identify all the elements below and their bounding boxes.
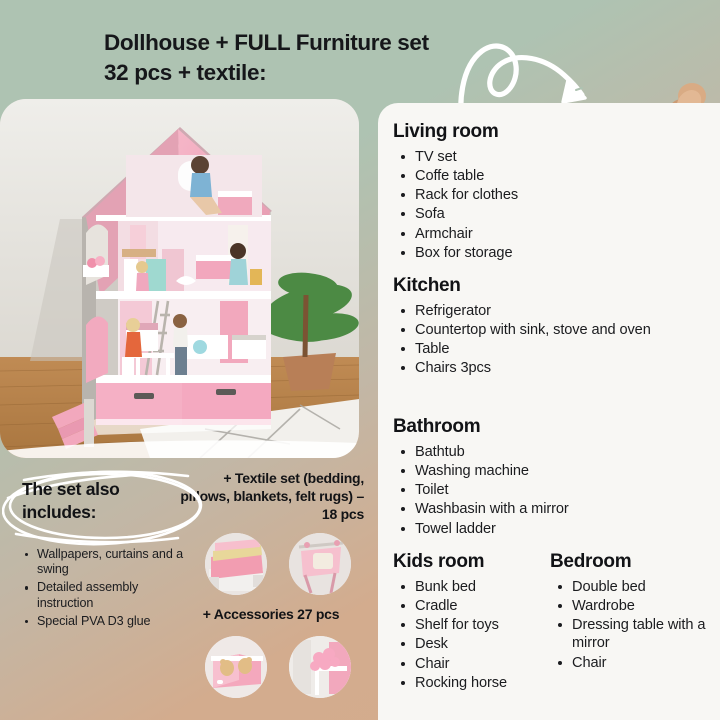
list-item: Armchair bbox=[393, 225, 693, 243]
page-title: Dollhouse + FULL Furniture set 32 pcs + … bbox=[104, 28, 504, 87]
list-item: Countertop with sink, stove and oven bbox=[393, 321, 693, 339]
list-item: Detailed assembly instruction bbox=[22, 580, 197, 612]
list-item: Washing machine bbox=[393, 462, 693, 480]
set-includes-heading-line-2: includes: bbox=[22, 502, 96, 522]
page-title-line-1: Dollhouse + FULL Furniture set bbox=[104, 28, 504, 58]
room-block-kitchen: Kitchen Refrigerator Countertop with sin… bbox=[393, 275, 693, 379]
room-block-bathroom: Bathroom Bathtub Washing machine Toilet … bbox=[393, 416, 693, 539]
list-item: Wardrobe bbox=[550, 597, 715, 615]
room-heading-bathroom: Bathroom bbox=[393, 416, 693, 438]
list-item: Toilet bbox=[393, 481, 693, 499]
list-item: Washbasin with a mirror bbox=[393, 500, 693, 518]
list-item: Wallpapers, curtains and a swing bbox=[22, 547, 197, 579]
room-heading-living-room: Living room bbox=[393, 121, 693, 143]
list-item: Rocking horse bbox=[393, 674, 553, 692]
list-item: Bathtub bbox=[393, 443, 693, 461]
room-block-bedroom: Bedroom Double bed Wardrobe Dressing tab… bbox=[550, 551, 715, 673]
toy-box-image bbox=[205, 636, 267, 698]
dollhouse-photo-illustration bbox=[0, 99, 359, 458]
flowers-wardrobe-image bbox=[289, 636, 351, 698]
set-includes-list: Wallpapers, curtains and a swing Detaile… bbox=[22, 547, 197, 630]
room-heading-bedroom: Bedroom bbox=[550, 551, 715, 573]
set-includes-heading: The set also includes: bbox=[22, 478, 197, 524]
list-item: Sofa bbox=[393, 205, 693, 223]
list-item: Box for storage bbox=[393, 244, 693, 262]
set-includes-heading-line-1: The set also bbox=[22, 479, 120, 499]
list-item: Desk bbox=[393, 635, 553, 653]
list-item: Towel ladder bbox=[393, 520, 693, 538]
room-list-kitchen: Refrigerator Countertop with sink, stove… bbox=[393, 302, 693, 378]
room-list-bathroom: Bathtub Washing machine Toilet Washbasin… bbox=[393, 443, 693, 538]
details-panel: Living room TV set Coffe table Rack for … bbox=[378, 103, 720, 720]
room-heading-kitchen: Kitchen bbox=[393, 275, 693, 297]
textile-set-caption: + Textile set (bedding, pillows, blanket… bbox=[178, 470, 364, 523]
page-title-line-2: 32 pcs + textile: bbox=[104, 58, 504, 88]
list-item: Cradle bbox=[393, 597, 553, 615]
infographic-page: Dollhouse + FULL Furniture set 32 pcs + … bbox=[0, 0, 720, 720]
bedding-set-thumb bbox=[205, 533, 267, 595]
list-item: Chair bbox=[393, 655, 553, 673]
room-list-bedroom: Double bed Wardrobe Dressing table with … bbox=[550, 578, 715, 672]
list-item: Shelf for toys bbox=[393, 616, 553, 634]
list-item: Chairs 3pcs bbox=[393, 359, 693, 377]
list-item: TV set bbox=[393, 148, 693, 166]
list-item: Coffe table bbox=[393, 167, 693, 185]
room-list-living-room: TV set Coffe table Rack for clothes Sofa… bbox=[393, 148, 693, 262]
room-block-kids-room: Kids room Bunk bed Cradle Shelf for toys… bbox=[393, 551, 553, 693]
list-item: Special PVA D3 glue bbox=[22, 614, 197, 630]
set-includes-block: The set also includes: Wallpapers, curta… bbox=[22, 478, 197, 632]
product-photo bbox=[0, 99, 359, 458]
list-item: Refrigerator bbox=[393, 302, 693, 320]
list-item: Rack for clothes bbox=[393, 186, 693, 204]
list-item: Bunk bed bbox=[393, 578, 553, 596]
toy-box-thumb bbox=[205, 636, 267, 698]
list-item: Chair bbox=[550, 654, 715, 672]
flowers-wardrobe-thumb bbox=[289, 636, 351, 698]
room-block-living-room: Living room TV set Coffe table Rack for … bbox=[393, 121, 693, 263]
bedding-set-image bbox=[205, 533, 267, 595]
list-item: Dressing table with a mirror bbox=[550, 616, 715, 652]
room-heading-kids-room: Kids room bbox=[393, 551, 553, 573]
room-list-kids-room: Bunk bed Cradle Shelf for toys Desk Chai… bbox=[393, 578, 553, 692]
cradle-textile-image bbox=[289, 533, 351, 595]
cradle-textile-thumb bbox=[289, 533, 351, 595]
accessories-caption: + Accessories 27 pcs bbox=[178, 606, 364, 622]
list-item: Table bbox=[393, 340, 693, 358]
list-item: Double bed bbox=[550, 578, 715, 596]
